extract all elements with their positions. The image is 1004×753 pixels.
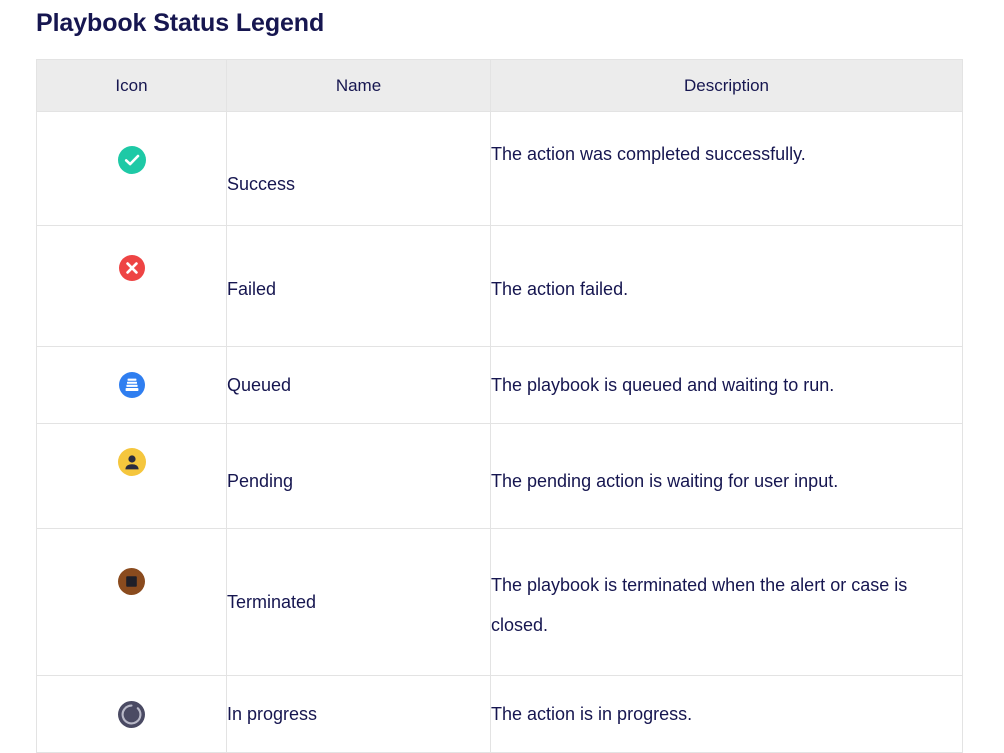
queued-stack-circle-icon (119, 372, 145, 398)
table-row: Success The action was completed success… (37, 112, 963, 226)
terminated-stop-circle-icon (118, 568, 145, 595)
status-description-cell: The playbook is queued and waiting to ru… (491, 347, 963, 424)
table-row: Queued The playbook is queued and waitin… (37, 347, 963, 424)
failed-x-circle-icon (119, 255, 145, 281)
status-name-cell: Pending (227, 424, 491, 529)
column-header-name: Name (227, 60, 491, 112)
status-name-cell: Failed (227, 226, 491, 347)
table-row: Pending The pending action is waiting fo… (37, 424, 963, 529)
status-description-cell: The action is in progress. (491, 676, 963, 753)
status-name-cell: Terminated (227, 529, 491, 676)
page-title: Playbook Status Legend (36, 6, 324, 40)
table-row: Failed The action failed. (37, 226, 963, 347)
pending-user-circle-icon (118, 448, 146, 476)
status-icon-cell (37, 676, 227, 753)
table-header-row: Icon Name Description (37, 60, 963, 112)
status-icon-cell (37, 226, 227, 347)
status-description-cell: The action failed. (491, 226, 963, 347)
table-row: Terminated The playbook is terminated wh… (37, 529, 963, 676)
success-check-circle-icon (118, 146, 146, 174)
table-header: Icon Name Description (37, 60, 963, 112)
column-header-icon: Icon (37, 60, 227, 112)
table-row: In progress The action is in progress. (37, 676, 963, 753)
status-name-cell: In progress (227, 676, 491, 753)
status-icon-cell (37, 347, 227, 424)
column-header-description: Description (491, 60, 963, 112)
status-icon-cell (37, 424, 227, 529)
status-icon-cell (37, 112, 227, 226)
playbook-status-legend-page: Playbook Status Legend Icon Name Descrip… (0, 0, 1004, 656)
status-icon-cell (37, 529, 227, 676)
status-name-cell: Queued (227, 347, 491, 424)
status-name-cell: Success (227, 112, 491, 226)
playbook-status-legend-table: Icon Name Description Success The action… (36, 59, 963, 753)
in-progress-spinner-circle-icon (118, 701, 145, 728)
table-body: Success The action was completed success… (37, 112, 963, 753)
status-description-cell: The pending action is waiting for user i… (491, 424, 963, 529)
status-description-cell: The playbook is terminated when the aler… (491, 529, 963, 676)
status-description-cell: The action was completed successfully. (491, 112, 963, 226)
